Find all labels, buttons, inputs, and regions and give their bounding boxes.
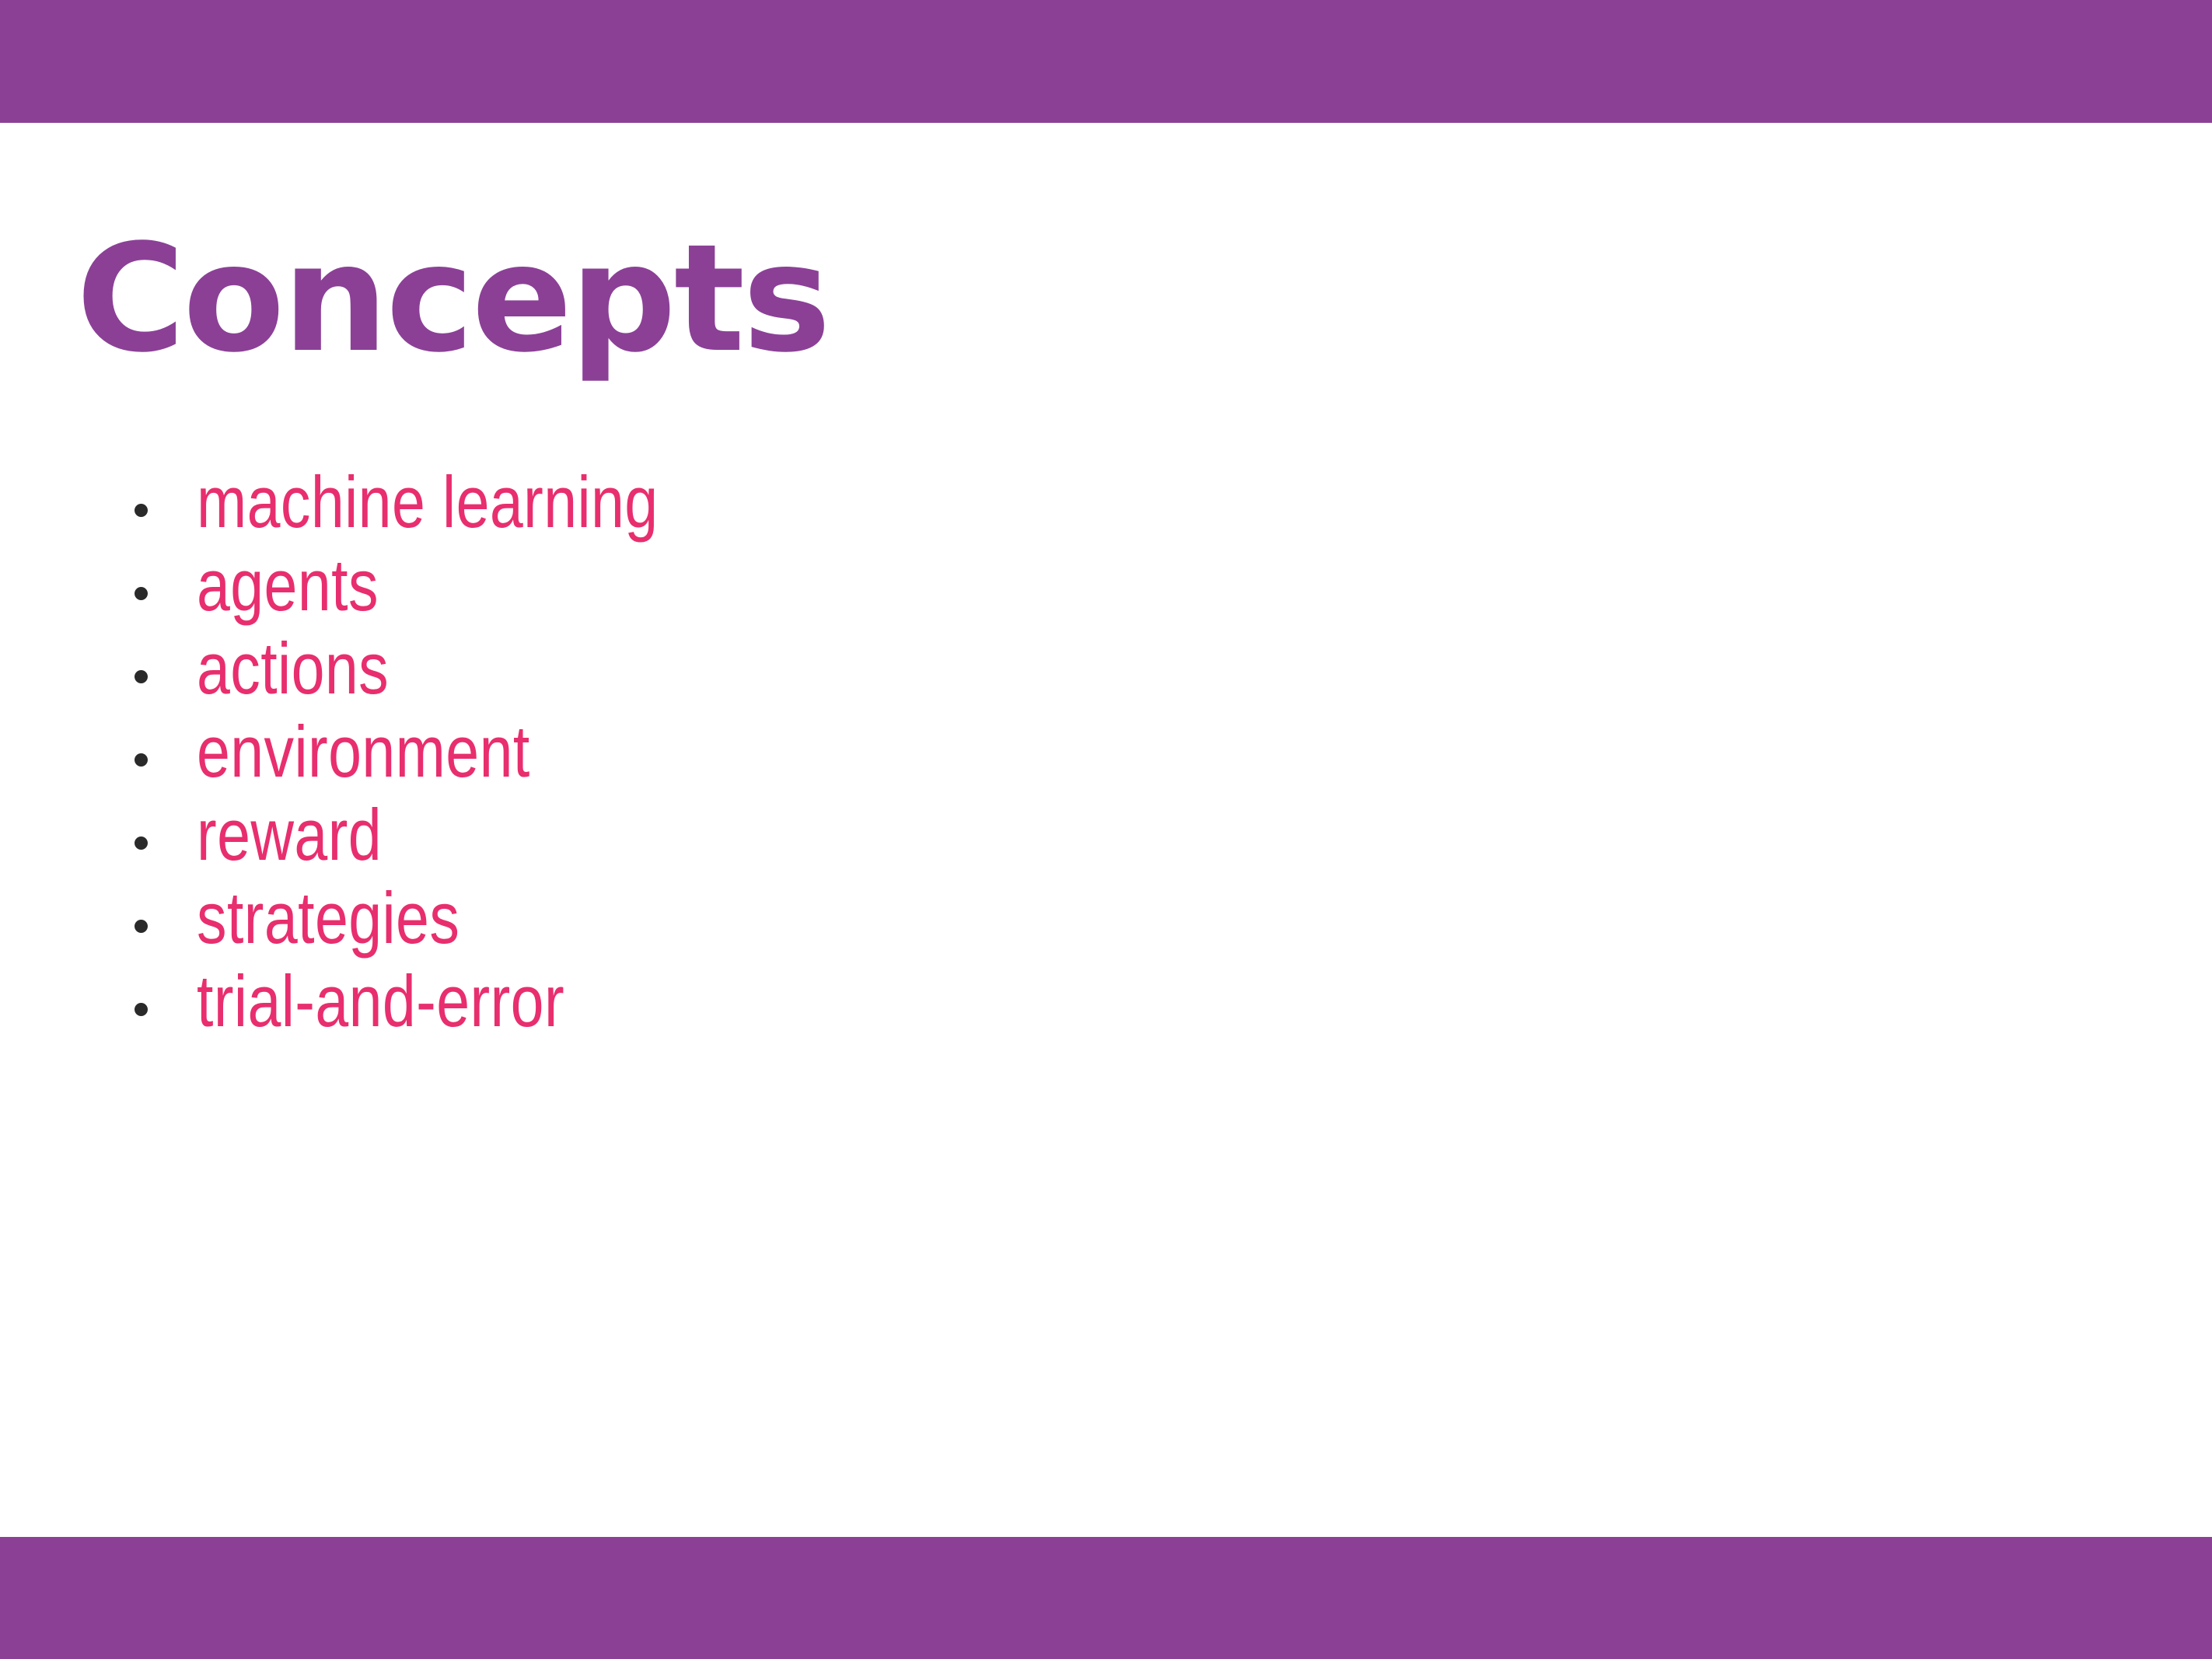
list-item-label: reward — [197, 796, 1849, 874]
list-item: strategies — [0, 879, 2212, 962]
bottom-decorative-band — [0, 1537, 2212, 1659]
bullet-dot-icon — [135, 504, 148, 517]
bullet-dot-icon — [135, 836, 148, 850]
concepts-bullet-list: machine learning agents actions environm… — [0, 463, 2212, 1046]
list-item: trial-and-error — [0, 962, 2212, 1046]
bullet-dot-icon — [135, 920, 148, 933]
presentation-slide: Concepts machine learning agents actions… — [0, 0, 2212, 1659]
bullet-dot-icon — [135, 587, 148, 600]
list-item-label: strategies — [197, 879, 1849, 957]
bullet-dot-icon — [135, 670, 148, 683]
list-item-label: environment — [197, 713, 1849, 791]
list-item-label: machine learning — [197, 463, 1849, 541]
list-item: agents — [0, 547, 2212, 630]
list-item: reward — [0, 796, 2212, 879]
list-item-label: actions — [197, 630, 1849, 707]
top-decorative-band — [0, 0, 2212, 123]
bullet-dot-icon — [135, 1003, 148, 1016]
page-title: Concepts — [76, 225, 829, 374]
list-item-label: trial-and-error — [197, 962, 1849, 1040]
list-item-label: agents — [197, 547, 1849, 624]
list-item: environment — [0, 713, 2212, 796]
bullet-dot-icon — [135, 753, 148, 767]
list-item: actions — [0, 630, 2212, 713]
list-item: machine learning — [0, 463, 2212, 547]
